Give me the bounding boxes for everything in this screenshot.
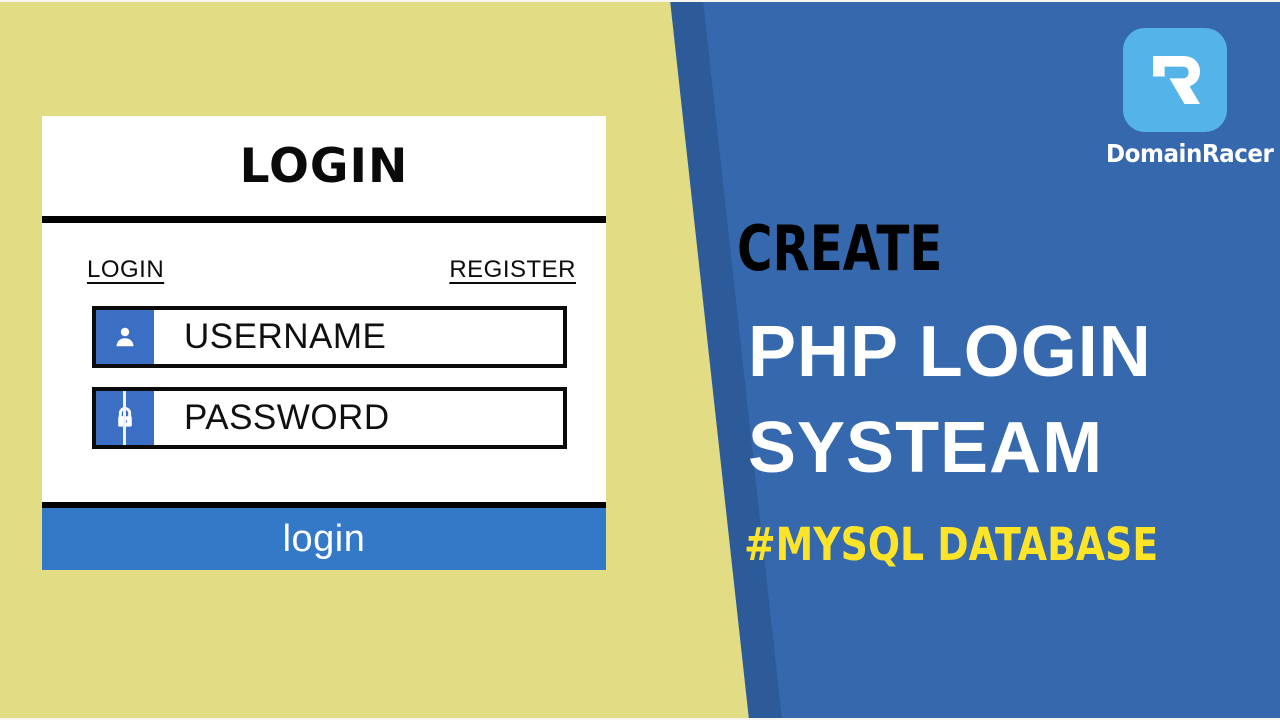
- username-input-text[interactable]: USERNAME: [154, 310, 563, 364]
- username-field[interactable]: USERNAME: [92, 306, 567, 368]
- promo-headline-line1: PHP LOGIN: [748, 316, 1152, 388]
- promo-hashtag: #MYSQL DATABASE: [744, 522, 1158, 567]
- header-divider: [42, 216, 606, 223]
- password-field[interactable]: PASSWORD: [92, 387, 567, 449]
- card-body: LOGIN REGISTER USERNAME: [42, 223, 606, 502]
- page-title: LOGIN: [240, 139, 409, 194]
- promo-headline-line2: SYSTEAM: [748, 412, 1103, 484]
- password-input-text[interactable]: PASSWORD: [154, 391, 563, 445]
- lock-icon: [96, 391, 154, 445]
- card-header: LOGIN: [42, 116, 606, 216]
- login-button-label: login: [283, 518, 366, 561]
- thumbnail-canvas: LOGIN LOGIN REGISTER USERNAME: [0, 0, 1280, 720]
- user-icon: [96, 310, 154, 364]
- domainracer-logo-icon: [1123, 28, 1227, 132]
- text-caret: [123, 391, 126, 445]
- tab-row: LOGIN REGISTER: [67, 256, 581, 284]
- promo-create-word: CREATE: [737, 218, 942, 280]
- login-submit-button[interactable]: login: [42, 502, 606, 570]
- brand-name-label: DomainRacer: [1106, 139, 1244, 168]
- tab-register[interactable]: REGISTER: [449, 256, 576, 284]
- brand-logo: DomainRacer: [1100, 28, 1250, 168]
- tab-login[interactable]: LOGIN: [87, 256, 164, 284]
- card-bottom-spacer: [67, 468, 581, 502]
- login-card: LOGIN LOGIN REGISTER USERNAME: [42, 116, 606, 570]
